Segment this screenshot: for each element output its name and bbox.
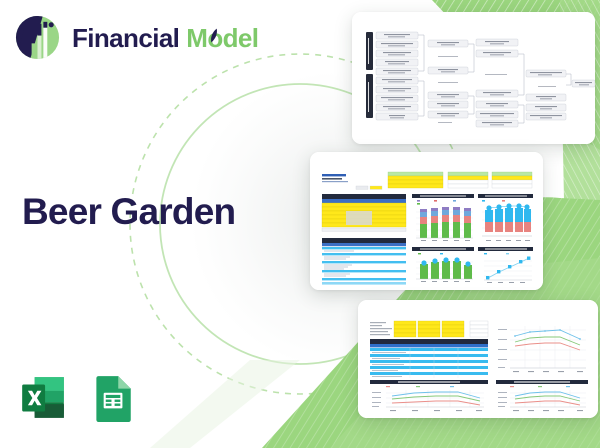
brand-name: Financial Model	[72, 25, 258, 51]
preview-card-dashboard[interactable]	[310, 152, 543, 290]
slide-canvas: Financial Model Beer Garden	[0, 0, 600, 448]
financial-model-circle-chart-icon	[14, 14, 61, 61]
brand-name-part2: Model	[186, 25, 258, 51]
brand-logo: Financial Model	[14, 14, 258, 61]
excel-icon[interactable]	[18, 373, 68, 423]
file-format-icons	[18, 373, 137, 423]
leaf-icon	[209, 28, 218, 43]
brand-name-part2-text: Model	[186, 23, 258, 53]
preview-card-tree-content	[352, 12, 595, 144]
preview-card-financial-ratio-tree[interactable]	[352, 12, 595, 144]
page-title: Beer Garden	[22, 192, 235, 233]
preview-card-dashboard-content	[310, 152, 543, 290]
google-sheets-icon[interactable]	[87, 373, 137, 423]
brand-name-part1: Financial	[72, 25, 179, 51]
preview-card-charts-sheet[interactable]	[358, 300, 598, 418]
preview-card-charts-content	[358, 300, 598, 418]
